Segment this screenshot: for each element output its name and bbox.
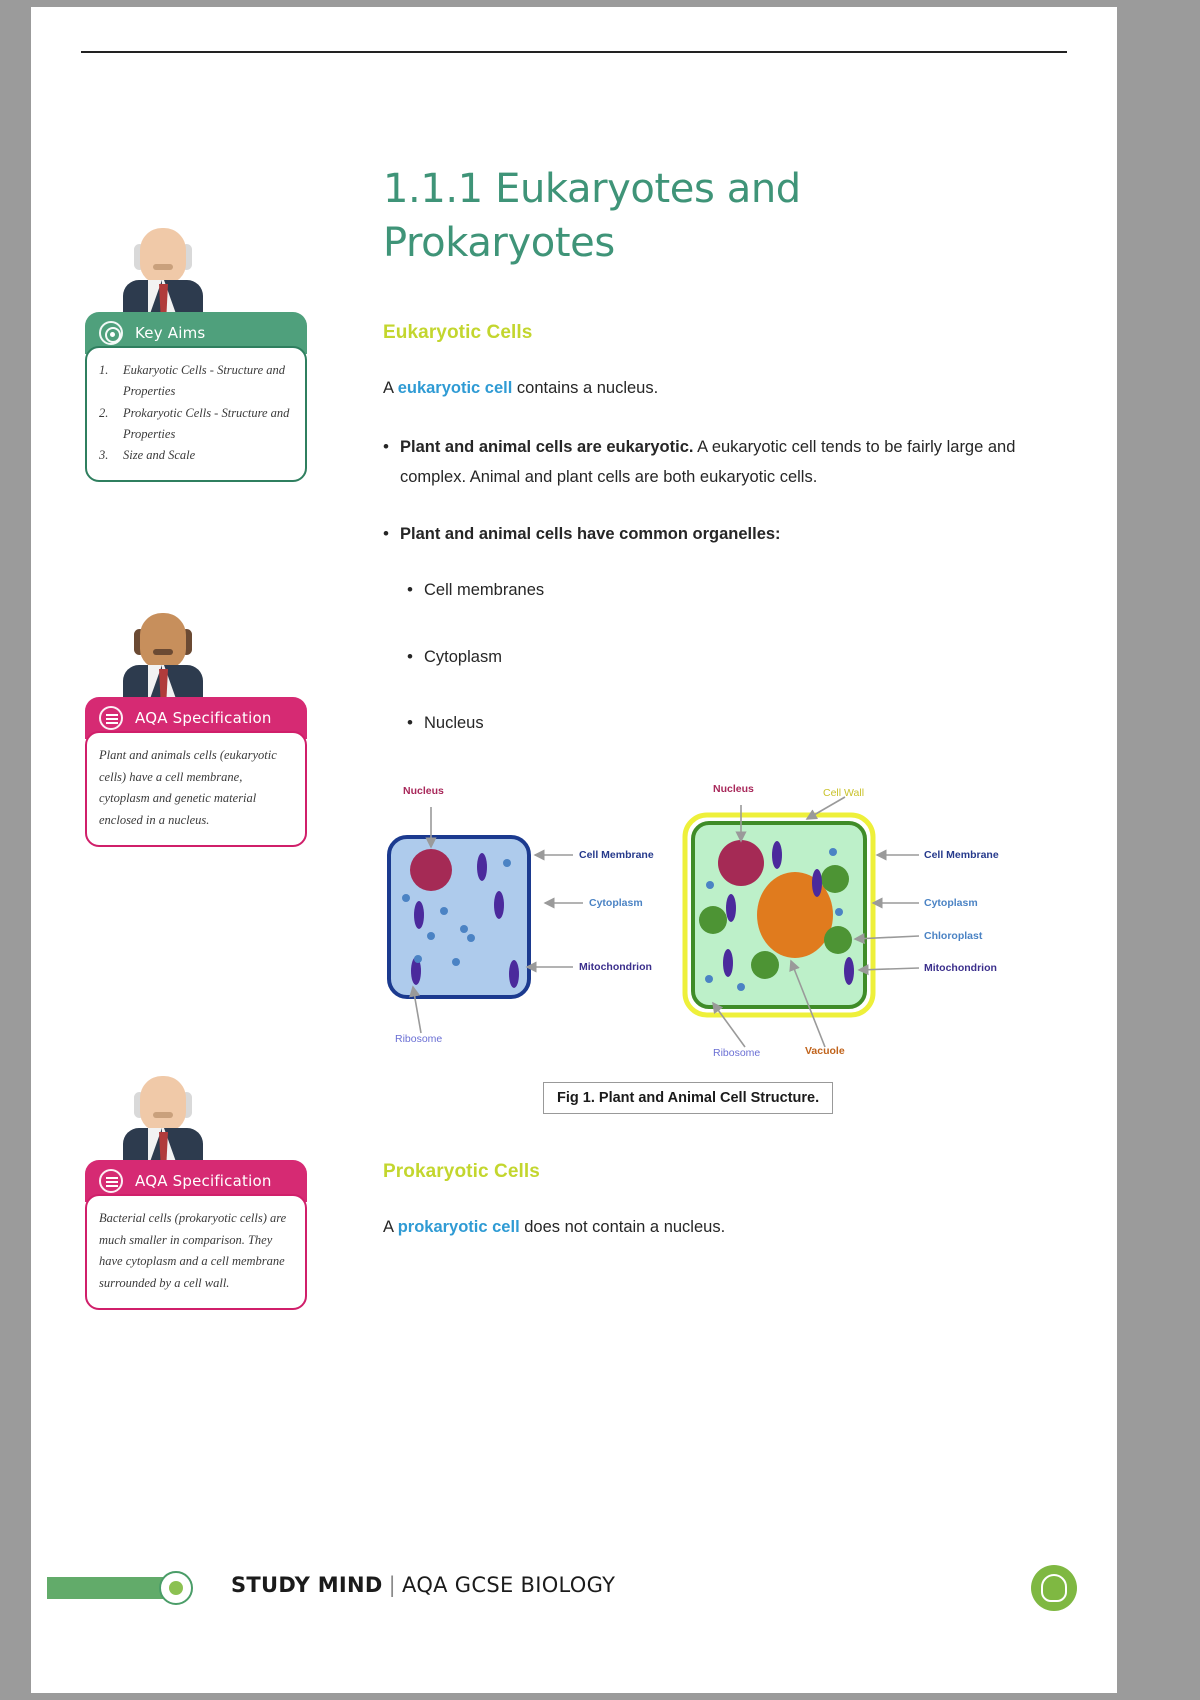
aqa-spec-callout-1: AQA Specification Plant and animals cell…	[85, 607, 307, 757]
list-item: Nucleus	[407, 708, 1043, 739]
spec-doc-icon	[99, 706, 123, 730]
aim-text: Size and Scale	[123, 445, 195, 466]
label-plant-vacuole: Vacuole	[805, 1045, 845, 1057]
target-icon	[99, 321, 123, 345]
intro-pre: A	[383, 379, 398, 397]
spec-doc-icon	[99, 1169, 123, 1193]
aqa-spec-body-1: Plant and animals cells (eukaryotic cell…	[85, 731, 307, 847]
bullet-plant-animal-eukaryotic: Plant and animal cells are eukaryotic. A…	[383, 432, 1043, 493]
label-plant-cell-membrane: Cell Membrane	[924, 849, 999, 861]
cell-structure-figure: Nucleus Cell Membrane Cytoplasm Mitochon…	[383, 775, 1043, 1105]
label-animal-nucleus: Nucleus	[403, 785, 444, 797]
intro-post: does not contain a nucleus.	[520, 1218, 725, 1236]
prokaryotic-intro: A prokaryotic cell does not contain a nu…	[383, 1215, 1043, 1241]
label-plant-cell-wall: Cell Wall	[823, 787, 864, 799]
aqa-spec-title-2: AQA Specification	[135, 1172, 272, 1190]
figure-caption: Fig 1. Plant and Animal Cell Structure.	[543, 1082, 833, 1114]
eukaryotic-intro: A eukaryotic cell contains a nucleus.	[383, 376, 1043, 402]
cell-diagram-svg	[383, 775, 1043, 1075]
label-animal-mitochondrion: Mitochondrion	[579, 961, 652, 973]
bullet-1-bold: Plant and animal cells are eukaryotic.	[400, 438, 693, 456]
label-animal-cell-membrane: Cell Membrane	[579, 849, 654, 861]
page-title-line2: Prokaryotes	[383, 216, 1043, 270]
main-content: 1.1.1 Eukaryotes and Prokaryotes Eukaryo…	[383, 7, 1043, 1240]
intro-pre: A	[383, 1218, 398, 1236]
label-animal-cytoplasm: Cytoplasm	[589, 897, 643, 909]
label-plant-chloroplast: Chloroplast	[924, 930, 982, 942]
label-plant-ribosome: Ribosome	[713, 1047, 760, 1059]
page-footer: STUDY MIND|AQA GCSE BIOLOGY	[31, 1543, 1117, 1693]
footer-separator: |	[389, 1573, 396, 1597]
section-heading-eukaryotic: Eukaryotic Cells	[383, 322, 1043, 344]
footer-dot-icon	[159, 1571, 193, 1605]
label-plant-cytoplasm: Cytoplasm	[924, 897, 978, 909]
prokaryotic-cell-term: prokaryotic cell	[398, 1218, 520, 1236]
key-aims-body: 1. Eukaryotic Cells - Structure and Prop…	[85, 346, 307, 482]
organelle-sublist: Cell membranes Cytoplasm Nucleus	[407, 575, 1043, 739]
aim-text: Eukaryotic Cells - Structure and Propert…	[123, 360, 293, 403]
key-aims-callout: Key Aims 1. Eukaryotic Cells - Structure…	[85, 222, 307, 392]
aim-number: 2.	[99, 403, 123, 446]
label-plant-nucleus: Nucleus	[713, 783, 754, 795]
aim-text: Prokaryotic Cells - Structure and Proper…	[123, 403, 293, 446]
footer-subject: AQA GCSE BIOLOGY	[402, 1573, 615, 1597]
list-item: 1. Eukaryotic Cells - Structure and Prop…	[99, 360, 293, 403]
label-plant-mitochondrion: Mitochondrion	[924, 962, 997, 974]
eukaryotic-bullets: Plant and animal cells are eukaryotic. A…	[383, 432, 1043, 739]
study-mind-logo	[1031, 1565, 1077, 1611]
aqa-spec-text-1: Plant and animals cells (eukaryotic cell…	[99, 745, 293, 831]
intro-post: contains a nucleus.	[512, 379, 658, 397]
head-leaf-icon	[1041, 1574, 1067, 1602]
page-title: 1.1.1 Eukaryotes and Prokaryotes	[383, 162, 1043, 270]
eukaryotic-cell-term: eukaryotic cell	[398, 379, 513, 397]
aqa-spec-body-2: Bacterial cells (prokaryotic cells) are …	[85, 1194, 307, 1310]
section-heading-prokaryotic: Prokaryotic Cells	[383, 1161, 1043, 1183]
list-item: Cytoplasm	[407, 642, 1043, 673]
key-aims-title: Key Aims	[135, 324, 205, 342]
aim-number: 1.	[99, 360, 123, 403]
list-item: 2. Prokaryotic Cells - Structure and Pro…	[99, 403, 293, 446]
page-canvas: Key Aims 1. Eukaryotic Cells - Structure…	[31, 7, 1117, 1693]
aim-number: 3.	[99, 445, 123, 466]
aqa-spec-callout-2: AQA Specification Bacterial cells (proka…	[85, 1070, 307, 1220]
list-item: Cell membranes	[407, 575, 1043, 606]
key-aims-list: 1. Eukaryotic Cells - Structure and Prop…	[99, 360, 293, 466]
footer-brand-text: STUDY MIND|AQA GCSE BIOLOGY	[231, 1573, 615, 1597]
brand-name: STUDY MIND	[231, 1573, 383, 1597]
aqa-spec-text-2: Bacterial cells (prokaryotic cells) are …	[99, 1208, 293, 1294]
aqa-spec-title-1: AQA Specification	[135, 709, 272, 727]
label-animal-ribosome: Ribosome	[395, 1033, 442, 1045]
sidebar: Key Aims 1. Eukaryotic Cells - Structure…	[31, 7, 361, 1693]
page-title-line1: 1.1.1 Eukaryotes and	[383, 162, 1043, 216]
list-item: 3. Size and Scale	[99, 445, 293, 466]
bullet-2-bold: Plant and animal cells have common organ…	[400, 525, 781, 543]
bullet-common-organelles: Plant and animal cells have common organ…	[383, 519, 1043, 550]
